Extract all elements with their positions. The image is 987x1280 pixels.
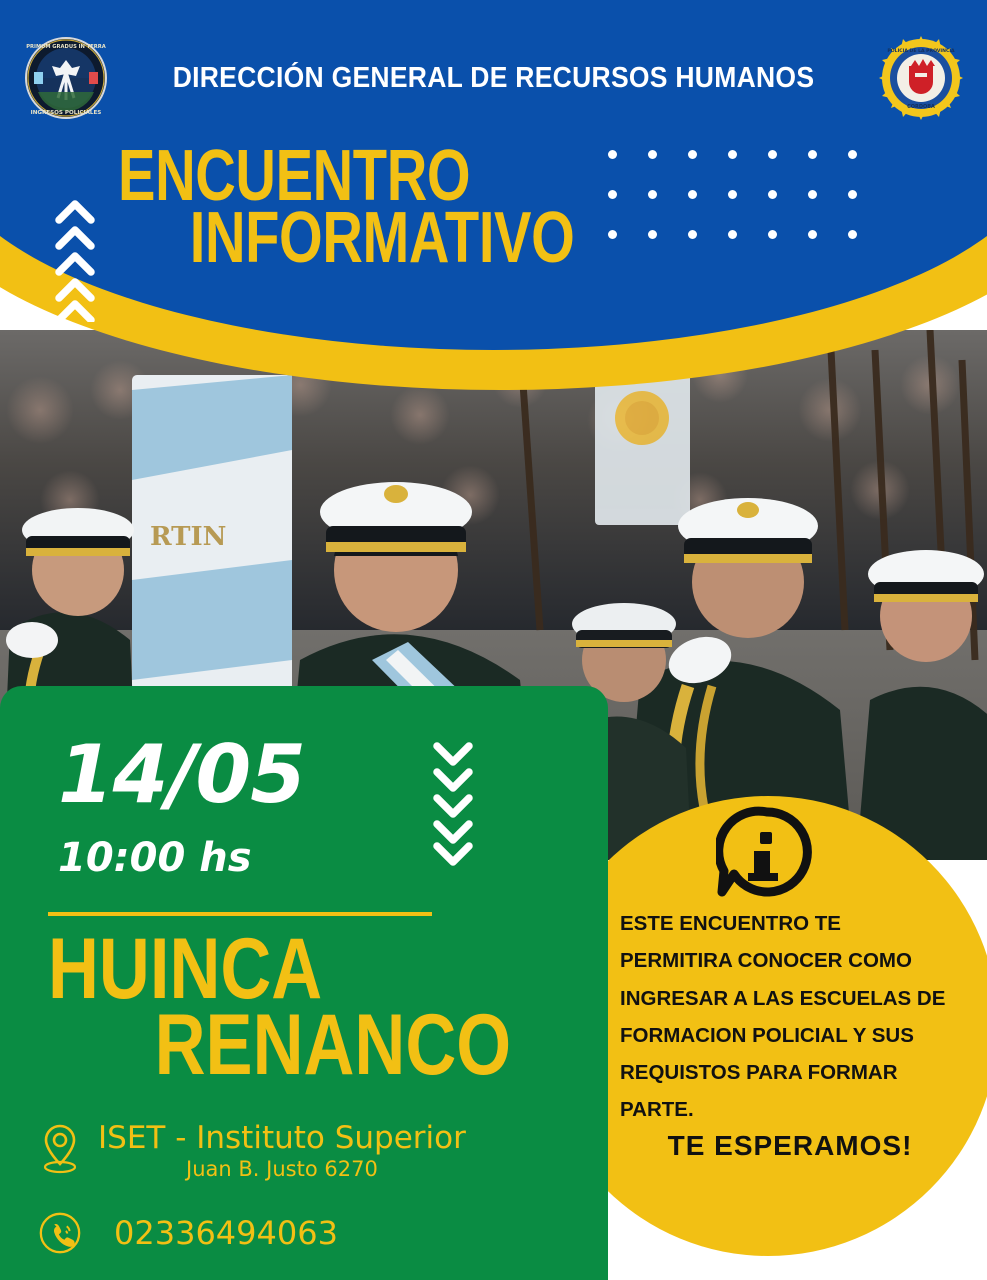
phone-number: 02336494063: [114, 1214, 338, 1252]
chevron-down-decoration: [430, 740, 476, 866]
svg-text:PRIMUM GRADUS IN TERRA: PRIMUM GRADUS IN TERRA: [26, 44, 106, 50]
map-pin-icon: [36, 1122, 84, 1174]
event-city: HUINCA RENANCO: [48, 932, 568, 1083]
chevron-up-decoration: [52, 196, 98, 322]
event-city-line2: RENANCO: [155, 1008, 581, 1084]
venue-address-row: ISET - Instituto Superior Juan B. Justo …: [36, 1122, 466, 1181]
hero-title: ENCUENTRO INFORMATIVO: [118, 146, 598, 270]
page-title: DIRECCIÓN GENERAL DE RECURSOS HUMANOS: [135, 62, 852, 95]
info-speech-bubble-icon: [716, 806, 812, 898]
svg-text:RTIN: RTIN: [150, 522, 226, 552]
direccion-general-recursos-humanos-logo: PRIMUM GRADUS IN TERRA INGRESOS POLICIAL…: [24, 36, 108, 120]
event-time: 10:00 hs: [58, 838, 252, 878]
contact-phone-row: 02336494063: [36, 1210, 338, 1256]
svg-text:CORDOBA: CORDOBA: [907, 104, 935, 110]
venue-street: Juan B. Justo 6270: [98, 1157, 466, 1181]
poster-canvas: RTIN: [0, 0, 987, 1280]
header-bar: PRIMUM GRADUS IN TERRA INGRESOS POLICIAL…: [0, 36, 987, 120]
event-date: 14/05: [58, 735, 305, 815]
venue-name: ISET - Instituto Superior: [98, 1120, 466, 1156]
policia-provincia-cordoba-logo: POLICIA DE LA PROVINCIA CORDOBA: [879, 36, 963, 120]
svg-text:INGRESOS POLICIALES: INGRESOS POLICIALES: [31, 110, 102, 116]
dot-grid-decoration: [608, 150, 888, 270]
divider-rule: [48, 912, 432, 916]
info-description: ESTE ENCUENTRO TE PERMITIRA CONOCER COMO…: [620, 905, 950, 1129]
hero-title-line2: INFORMATIVO: [190, 208, 564, 270]
call-to-action: TE ESPERAMOS!: [620, 1130, 960, 1162]
phone-icon: [36, 1210, 84, 1256]
svg-text:POLICIA DE LA PROVINCIA: POLICIA DE LA PROVINCIA: [887, 48, 955, 54]
